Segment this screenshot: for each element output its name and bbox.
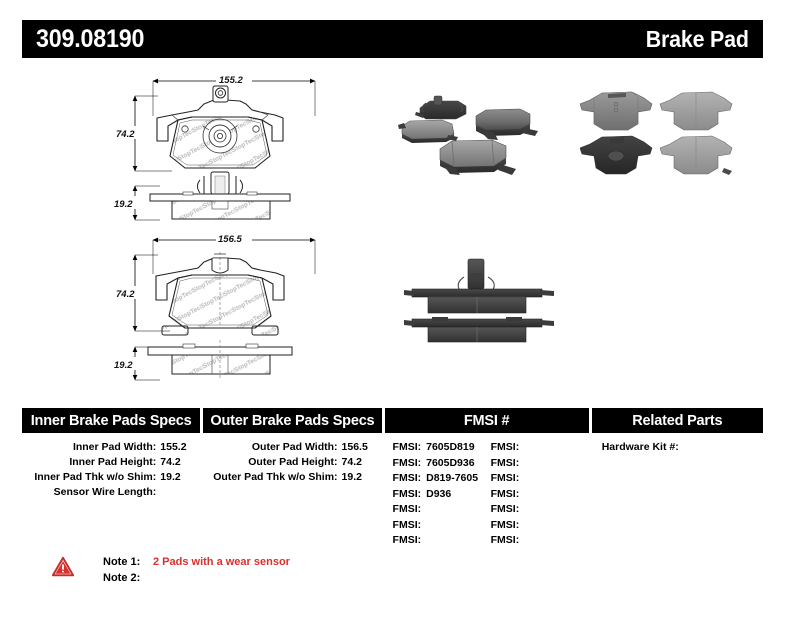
spec-value: 155.2: [160, 440, 200, 455]
fmsi-header: FMSI #: [385, 408, 589, 433]
inner-thickness-dim: 19.2: [114, 199, 133, 210]
spec-value: 74.2: [342, 455, 382, 470]
outer-height-dim: 74.2: [116, 289, 135, 300]
fmsi-row: FMSI:: [491, 502, 589, 518]
spec-value: 19.2: [342, 470, 382, 485]
product-type-label: Brake Pad: [646, 26, 749, 53]
fmsi-row: FMSI:: [393, 533, 491, 549]
fmsi-row: FMSI:: [393, 502, 491, 518]
spec-row: Outer Pad Thk w/o Shim: 19.2: [203, 470, 381, 485]
spec-row: Inner Pad Thk w/o Shim: 19.2: [22, 470, 200, 485]
drawings-area: StopTech 155.2 74.2: [0, 60, 800, 390]
spec-label: Inner Pad Height:: [22, 455, 160, 470]
fmsi-value: 7605D819: [426, 441, 474, 453]
spec-label: Outer Pad Height:: [203, 455, 341, 470]
inner-brake-pad-drawing: StopTech 155.2 74.2: [100, 68, 340, 233]
spec-row: Sensor Wire Length:: [22, 485, 200, 500]
fmsi-key: FMSI:: [491, 457, 520, 469]
fmsi-key: FMSI:: [491, 472, 520, 484]
spec-value: [160, 485, 200, 500]
outer-specs-header: Outer Brake Pads Specs: [203, 408, 381, 433]
fmsi-key: FMSI:: [393, 488, 422, 500]
fmsi-key: FMSI:: [393, 503, 422, 515]
inner-specs-column: Inner Brake Pads Specs Inner Pad Width: …: [22, 408, 200, 549]
inner-width-dim: 155.2: [219, 75, 243, 86]
outer-thickness-dim: 19.2: [114, 360, 133, 371]
spec-row: Outer Pad Width: 156.5: [203, 440, 381, 455]
fmsi-row: FMSI:: [491, 518, 589, 534]
fmsi-row: FMSI:: [491, 487, 589, 503]
related-parts-column: Related Parts Hardware Kit #:: [592, 408, 763, 549]
fmsi-row: FMSI:D819-7605: [393, 471, 491, 487]
spec-value: 156.5: [342, 440, 382, 455]
fmsi-key: FMSI:: [491, 519, 520, 531]
fmsi-row: FMSI:7605D936: [393, 456, 491, 472]
fmsi-row: FMSI:7605D819: [393, 440, 491, 456]
spec-label: Inner Pad Width:: [22, 440, 160, 455]
brake-pad-edge-view-photo: [398, 255, 578, 345]
note-2-label: Note 2:: [103, 570, 149, 586]
brake-pad-front-back-photo: [580, 88, 740, 183]
inner-height-dim: 74.2: [116, 129, 135, 140]
hardware-kit-row: Hardware Kit #:: [592, 440, 763, 455]
note-1-label: Note 1:: [103, 554, 149, 570]
header-bar: 309.08190 Brake Pad: [22, 20, 763, 58]
spec-row: Outer Pad Height: 74.2: [203, 455, 381, 470]
fmsi-row: FMSI:: [491, 533, 589, 549]
spec-row: Inner Pad Height: 74.2: [22, 455, 200, 470]
spec-label: Outer Pad Width:: [203, 440, 341, 455]
fmsi-row: FMSI:: [491, 471, 589, 487]
fmsi-key: FMSI:: [393, 519, 422, 531]
related-parts-header: Related Parts: [592, 408, 763, 433]
warning-triangle-icon: [52, 556, 74, 578]
spec-value: 74.2: [160, 455, 200, 470]
fmsi-key: FMSI:: [393, 534, 422, 546]
fmsi-row: FMSI:: [393, 518, 491, 534]
note-line-1: Note 1: 2 Pads with a wear sensor: [103, 554, 290, 570]
fmsi-key: FMSI:: [491, 488, 520, 500]
note-line-2: Note 2:: [103, 570, 290, 586]
fmsi-right-column: FMSI: FMSI: FMSI: FMSI: FMSI:: [491, 440, 589, 549]
spec-value: 19.2: [160, 470, 200, 485]
fmsi-body: FMSI:7605D819 FMSI:7605D936 FMSI:D819-76…: [385, 433, 589, 549]
spec-table: Inner Brake Pads Specs Inner Pad Width: …: [22, 408, 763, 549]
brake-pad-set-angled-photo: [396, 90, 556, 180]
fmsi-row: FMSI:: [491, 440, 589, 456]
note-1-value: 2 Pads with a wear sensor: [153, 554, 290, 570]
inner-specs-body: Inner Pad Width: 155.2 Inner Pad Height:…: [22, 433, 200, 500]
outer-brake-pad-drawing: StopTech 156.5 74.2 19.2: [100, 228, 340, 398]
fmsi-value: D819-7605: [426, 472, 478, 484]
fmsi-key: FMSI:: [393, 457, 422, 469]
inner-specs-header: Inner Brake Pads Specs: [22, 408, 200, 433]
spec-label: Outer Pad Thk w/o Shim:: [203, 470, 341, 485]
notes-text-block: Note 1: 2 Pads with a wear sensor Note 2…: [103, 554, 290, 586]
fmsi-key: FMSI:: [393, 441, 422, 453]
fmsi-key: FMSI:: [393, 472, 422, 484]
fmsi-key: FMSI:: [491, 503, 520, 515]
fmsi-key: FMSI:: [491, 534, 520, 546]
related-parts-body: Hardware Kit #:: [592, 433, 763, 455]
outer-specs-column: Outer Brake Pads Specs Outer Pad Width: …: [203, 408, 381, 549]
fmsi-row: FMSI:D936: [393, 487, 491, 503]
fmsi-column: FMSI # FMSI:7605D819 FMSI:7605D936 FMSI:…: [385, 408, 589, 549]
fmsi-left-column: FMSI:7605D819 FMSI:7605D936 FMSI:D819-76…: [393, 440, 491, 549]
spec-row: Inner Pad Width: 155.2: [22, 440, 200, 455]
part-number: 309.08190: [36, 25, 144, 54]
fmsi-key: FMSI:: [491, 441, 520, 453]
spec-label: Sensor Wire Length:: [22, 485, 160, 500]
spec-label: Inner Pad Thk w/o Shim:: [22, 470, 160, 485]
notes-section: Note 1: 2 Pads with a wear sensor Note 2…: [52, 554, 290, 586]
outer-width-dim: 156.5: [218, 234, 242, 245]
outer-specs-body: Outer Pad Width: 156.5 Outer Pad Height:…: [203, 433, 381, 485]
fmsi-value: 7605D936: [426, 457, 474, 469]
fmsi-row: FMSI:: [491, 456, 589, 472]
fmsi-value: D936: [426, 488, 451, 500]
